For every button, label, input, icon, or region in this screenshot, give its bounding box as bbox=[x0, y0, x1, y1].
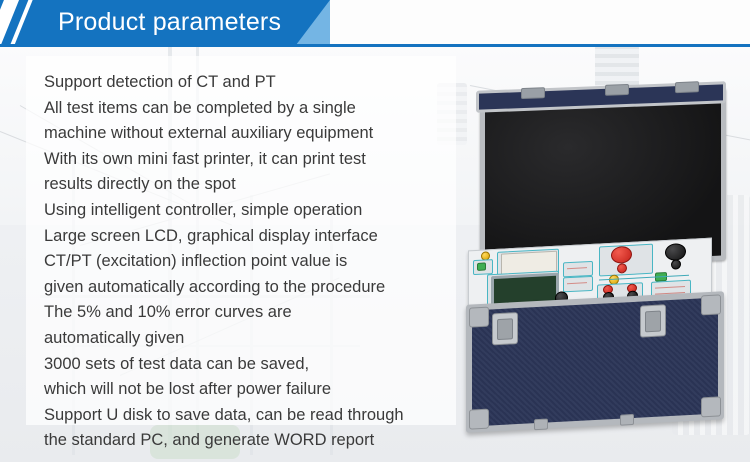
case-latch[interactable] bbox=[492, 312, 518, 345]
case-body bbox=[466, 291, 724, 433]
case-foot bbox=[620, 414, 634, 426]
spec-line: 3000 sets of test data can be saved, bbox=[44, 352, 444, 378]
spec-line: Support detection of CT and PT bbox=[44, 70, 444, 96]
spec-line: the standard PC, and generate WORD repor… bbox=[44, 428, 444, 454]
lid-clip-icon bbox=[521, 87, 545, 99]
spec-line: machine without external auxiliary equip… bbox=[44, 121, 444, 147]
spec-line: given automatically according to the pro… bbox=[44, 275, 444, 301]
specs-text-block: Support detection of CT and PT All test … bbox=[44, 70, 444, 454]
lid-clip-icon bbox=[605, 84, 629, 96]
diagonal-slash-icon bbox=[0, 0, 21, 45]
corner-triangle-icon bbox=[296, 0, 330, 45]
spec-line: Large screen LCD, graphical display inte… bbox=[44, 224, 444, 250]
page-title: Product parameters bbox=[58, 6, 281, 39]
spec-line: All test items can be completed by a sin… bbox=[44, 96, 444, 122]
case-latch[interactable] bbox=[640, 304, 666, 337]
case-corner-bracket bbox=[469, 409, 489, 430]
indicator-lamp-black[interactable] bbox=[671, 259, 681, 270]
section-banner: Product parameters bbox=[0, 0, 330, 45]
case-foot bbox=[534, 418, 548, 430]
hv-output-terminal-black[interactable] bbox=[665, 243, 686, 261]
spec-line: automatically given bbox=[44, 326, 444, 352]
spec-line: Support U disk to save data, can be read… bbox=[44, 403, 444, 429]
spec-line: The 5% and 10% error curves are bbox=[44, 300, 444, 326]
product-photo bbox=[462, 92, 750, 432]
lid-clip-icon bbox=[675, 81, 699, 93]
spec-line: CT/PT (excitation) inflection point valu… bbox=[44, 249, 444, 275]
header-divider bbox=[0, 44, 750, 47]
latch-hook-icon bbox=[645, 311, 661, 333]
spec-line: which will not be lost after power failu… bbox=[44, 377, 444, 403]
case-corner-bracket bbox=[701, 294, 721, 315]
ground-terminal[interactable] bbox=[477, 262, 486, 270]
case-corner-bracket bbox=[469, 307, 489, 328]
product-parameters-slide: Product parameters Support detection of … bbox=[0, 0, 750, 462]
spec-line: With its own mini fast printer, it can p… bbox=[44, 147, 444, 173]
latch-hook-icon bbox=[497, 318, 513, 340]
case-corner-bracket bbox=[701, 396, 721, 417]
spec-line: results directly on the spot bbox=[44, 172, 444, 198]
spec-line: Using intelligent controller, simple ope… bbox=[44, 198, 444, 224]
